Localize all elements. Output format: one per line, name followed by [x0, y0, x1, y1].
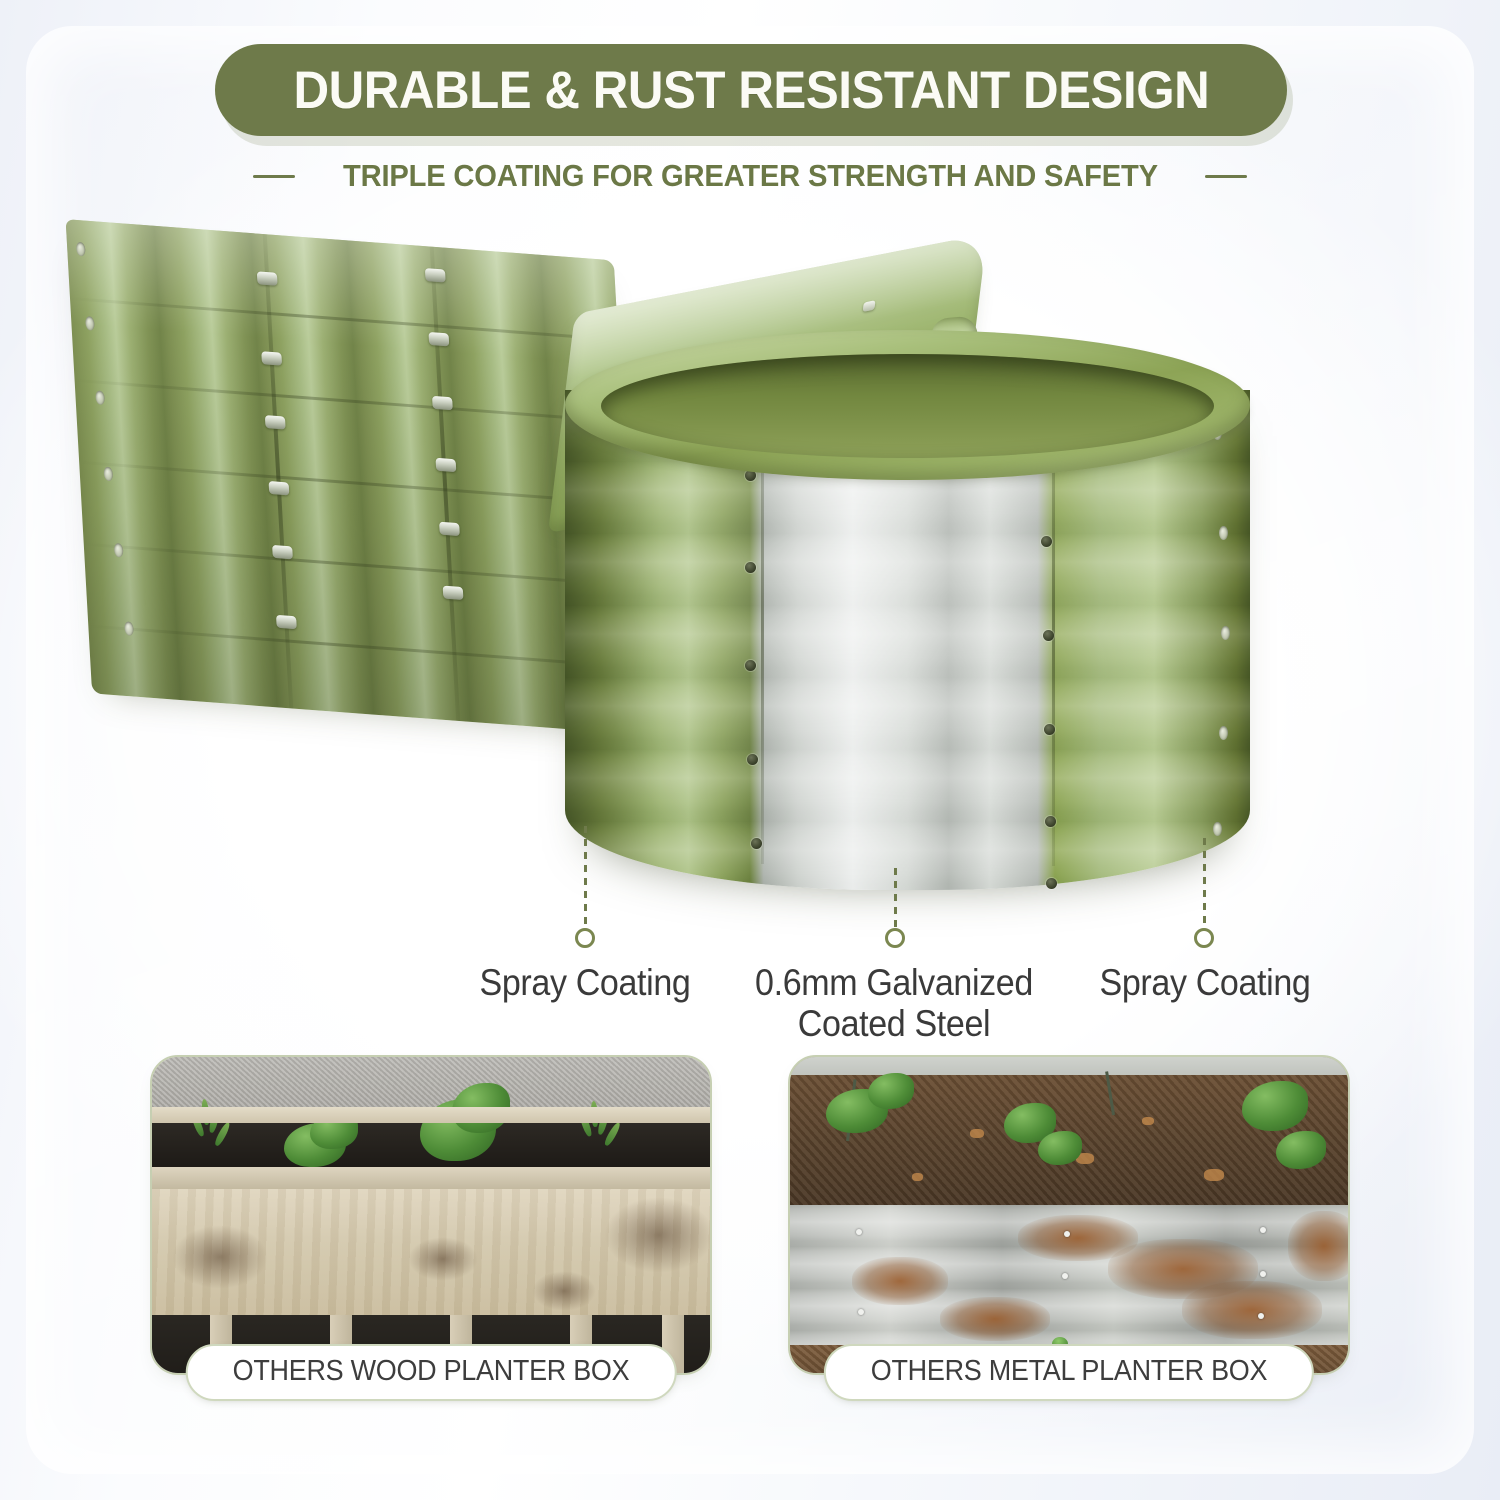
callout-leader-dot-3: [1194, 928, 1214, 948]
comparison-card-wood[interactable]: OTHERS WOOD PLANTER BOX: [150, 1055, 712, 1375]
rust-patch: [852, 1257, 948, 1305]
soil-debris: [1204, 1169, 1224, 1181]
metal-rivet: [858, 1309, 864, 1315]
callout-label-spray-coating-left: Spray Coating: [442, 962, 727, 1003]
rust-patch: [940, 1297, 1050, 1341]
metal-scene: [790, 1057, 1348, 1373]
wood-weather-stain: [532, 1271, 596, 1311]
caption-wood-planter: OTHERS WOOD PLANTER BOX: [186, 1344, 677, 1401]
callout-label-galvanized-steel: 0.6mm Galvanized Coated Steel: [732, 962, 1056, 1045]
rust-patch: [1288, 1211, 1350, 1281]
callout-leader-line-1: [584, 826, 587, 930]
rusted-metal-wall: [790, 1205, 1348, 1345]
comparison-card-metal[interactable]: OTHERS METAL PLANTER BOX: [788, 1055, 1350, 1375]
wood-planter-photo: [150, 1055, 712, 1375]
caption-metal-planter: OTHERS METAL PLANTER BOX: [824, 1344, 1314, 1401]
wood-weather-stain: [172, 1225, 268, 1289]
rust-patch: [1182, 1281, 1322, 1339]
metal-rivet: [1064, 1231, 1070, 1237]
callout-leader-line-2: [894, 868, 897, 930]
callout-leader-dot-1: [575, 928, 595, 948]
metal-rivet: [1258, 1313, 1264, 1319]
caption-wood-text: OTHERS WOOD PLANTER BOX: [233, 1355, 630, 1388]
soil-debris: [1142, 1117, 1154, 1125]
soil-debris: [970, 1129, 984, 1138]
wood-weather-stain: [408, 1237, 478, 1281]
soil-debris: [912, 1173, 923, 1181]
metal-rivet: [1260, 1271, 1266, 1277]
wood-rail-lower: [152, 1167, 710, 1189]
metal-rivet: [856, 1229, 862, 1235]
caption-metal-text: OTHERS METAL PLANTER BOX: [871, 1355, 1267, 1388]
comparison-section: OTHERS WOOD PLANTER BOX: [0, 1055, 1500, 1455]
metal-rivet: [1062, 1273, 1068, 1279]
metal-rivet: [1260, 1227, 1266, 1233]
callout-label-spray-coating-right: Spray Coating: [1062, 962, 1347, 1003]
wood-weather-stain: [604, 1197, 712, 1273]
wood-rail-upper: [152, 1107, 710, 1123]
callout-leader-line-3: [1203, 838, 1206, 930]
callout-leader-dot-2: [885, 928, 905, 948]
metal-planter-photo: [788, 1055, 1350, 1375]
wood-scene: [152, 1057, 710, 1373]
infographic-canvas: DURABLE & RUST RESISTANT DESIGN TRIPLE C…: [0, 0, 1500, 1500]
